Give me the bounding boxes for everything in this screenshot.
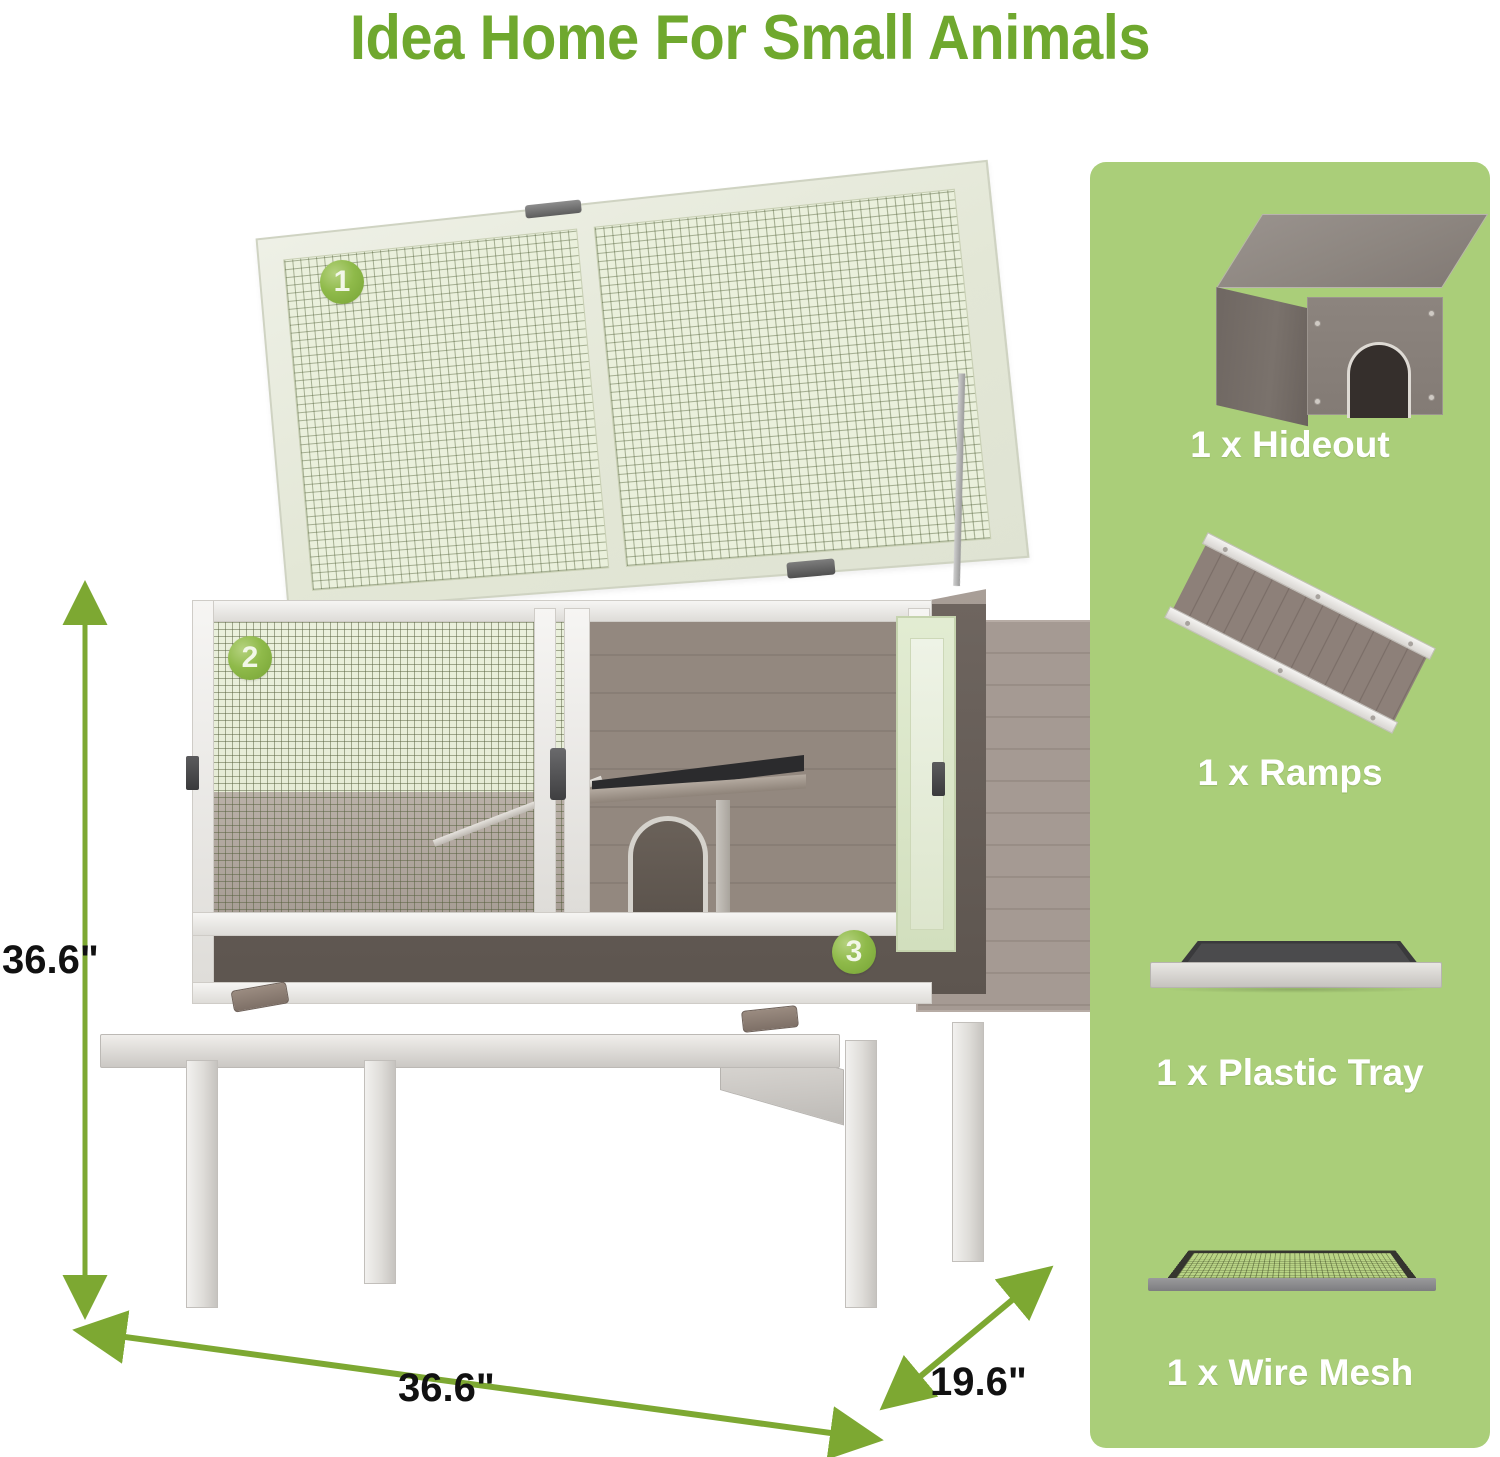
part-label-wire-mesh: 1 x Wire Mesh bbox=[1090, 1352, 1490, 1394]
hideout-arch-opening bbox=[628, 816, 708, 920]
hinged-mesh-lid bbox=[255, 174, 987, 626]
infographic-root: Idea Home For Small Animals bbox=[0, 0, 1500, 1457]
frame-rail-left bbox=[192, 600, 214, 996]
part-item-hideout: 1 x Hideout bbox=[1090, 174, 1490, 466]
product-illustration: 1 2 3 36.6" 36.6" 19.6" bbox=[0, 0, 1060, 1457]
part-item-plastic-tray: 1 x Plastic Tray bbox=[1090, 852, 1490, 1094]
part-label-plastic-tray: 1 x Plastic Tray bbox=[1090, 1052, 1490, 1094]
leg-front-right bbox=[845, 1040, 877, 1308]
hideout-box-icon bbox=[1090, 174, 1490, 424]
lid-latch-icon bbox=[786, 558, 835, 578]
door-latch-icon[interactable] bbox=[550, 748, 566, 800]
leg-rear-left bbox=[364, 1060, 396, 1284]
hinge-right-icon bbox=[932, 762, 945, 796]
included-parts-panel: 1 x Hideout bbox=[1090, 162, 1490, 1448]
hinge-left-icon bbox=[186, 756, 199, 790]
part-label-ramps: 1 x Ramps bbox=[1090, 752, 1490, 794]
dimension-height-label: 36.6" bbox=[2, 938, 99, 983]
leg-rear-right bbox=[952, 1022, 984, 1262]
interior-post bbox=[716, 800, 730, 920]
part-item-wire-mesh: 1 x Wire Mesh bbox=[1090, 1162, 1490, 1394]
plastic-tray-icon bbox=[1090, 852, 1490, 1052]
lid-frame bbox=[256, 160, 1030, 613]
leg-front-left bbox=[186, 1060, 218, 1308]
callout-badge-3: 3 bbox=[832, 930, 876, 974]
frame-rail-mid bbox=[192, 912, 932, 936]
frame-rail-top bbox=[192, 600, 932, 622]
wire-mesh-icon bbox=[1090, 1162, 1490, 1352]
part-label-hideout: 1 x Hideout bbox=[1090, 424, 1490, 466]
dimension-depth-label: 19.6" bbox=[930, 1360, 1027, 1405]
frame-stile-center-b bbox=[564, 608, 590, 918]
lid-mesh-right bbox=[594, 189, 992, 567]
side-access-door[interactable] bbox=[896, 616, 956, 952]
part-item-ramps: 1 x Ramps bbox=[1090, 520, 1490, 794]
callout-badge-1: 1 bbox=[320, 260, 364, 304]
callout-badge-2: 2 bbox=[228, 636, 272, 680]
lid-hinge-icon bbox=[525, 199, 582, 218]
ramp-icon bbox=[1090, 520, 1490, 752]
dimension-width-label: 36.6" bbox=[398, 1366, 495, 1411]
